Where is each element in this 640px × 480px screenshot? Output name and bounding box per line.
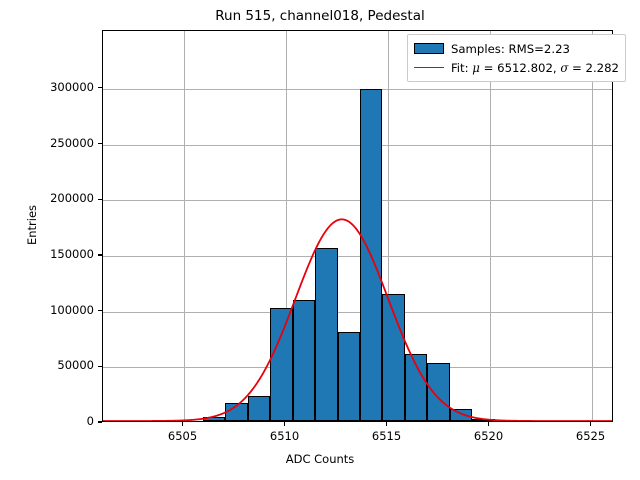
legend-label-samples: Samples: RMS=2.23 <box>451 42 570 56</box>
x-axis-tick-label: 6520 <box>459 429 519 443</box>
y-axis-tick <box>98 421 102 422</box>
y-axis-tick-label: 100000 <box>0 303 94 317</box>
y-axis-tick-label: 150000 <box>0 247 94 261</box>
legend-mu-value: = 6512.802, <box>480 61 560 75</box>
legend-fit-prefix: Fit: <box>451 61 472 75</box>
figure-canvas: Run 515, channel018, Pedestal 0500001000… <box>0 0 640 480</box>
x-axis-tick <box>590 422 591 426</box>
legend-mu-symbol: μ <box>472 61 480 75</box>
legend-item-fit: Fit: μ = 6512.802, σ = 2.282 <box>414 58 619 77</box>
x-axis-tick <box>488 422 489 426</box>
y-axis-tick <box>98 254 102 255</box>
y-axis-tick-label: 250000 <box>0 136 94 150</box>
y-axis-tick <box>98 366 102 367</box>
x-axis-tick-label: 6505 <box>153 429 213 443</box>
y-axis-tick-label: 200000 <box>0 191 94 205</box>
y-axis-tick <box>98 310 102 311</box>
legend-sigma-value: = 2.282 <box>568 61 619 75</box>
x-axis-tick-label: 6515 <box>357 429 417 443</box>
legend-patch-swatch-icon <box>414 43 444 54</box>
y-axis-tick-label: 50000 <box>0 358 94 372</box>
y-axis-label: Entries <box>25 195 39 255</box>
x-axis-tick <box>386 422 387 426</box>
y-axis-tick <box>98 143 102 144</box>
chart-title: Run 515, channel018, Pedestal <box>0 8 640 24</box>
plot-axes <box>102 30 613 422</box>
y-axis-tick-label: 0 <box>0 414 94 428</box>
x-axis-label: ADC Counts <box>0 452 640 466</box>
x-axis-tick <box>284 422 285 426</box>
x-axis-tick-label: 6525 <box>561 429 621 443</box>
chart-legend: Samples: RMS=2.23 Fit: μ = 6512.802, σ =… <box>407 34 626 82</box>
x-axis-tick <box>182 422 183 426</box>
legend-label-fit: Fit: μ = 6512.802, σ = 2.282 <box>451 61 619 75</box>
legend-line-swatch-icon <box>414 67 444 68</box>
x-axis-tick-label: 6510 <box>255 429 315 443</box>
gaussian-fit-curve <box>103 31 612 421</box>
legend-item-samples: Samples: RMS=2.23 <box>414 39 619 58</box>
y-axis-tick <box>98 199 102 200</box>
y-axis-tick-label: 300000 <box>0 80 94 94</box>
y-axis-tick <box>98 87 102 88</box>
